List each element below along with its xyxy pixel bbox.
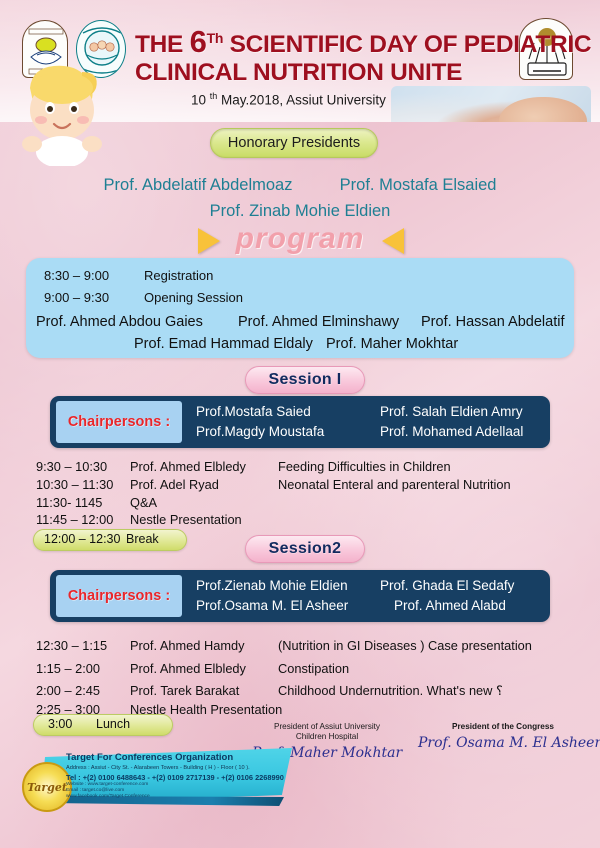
break-label: Break [126,532,159,546]
row-speaker: Prof. Ahmed Elbledy [130,459,246,474]
chairperson-name: Prof.Magdy Moustafa [196,424,324,439]
poster-title-line-1: THE 6Th SCIENTIFIC DAY OF PEDIATRIC [135,24,527,59]
title-pre: THE [135,31,190,58]
program-heading: program [0,222,600,262]
session-1-badge: Session I [245,366,365,394]
triangle-left-icon [382,228,404,254]
cartoon-baby-illustration [8,54,120,166]
chairpersons-label: Chairpersons : [68,414,170,430]
session-1-row: 9:30 – 10:30 Prof. Ahmed Elbledy Feeding… [0,459,600,479]
honorary-names-row-2: Prof. Zinab Mohie Eldien [0,202,600,221]
row-speaker: Prof. Tarek Barakat [130,683,239,698]
chairperson-name: Prof. Salah Eldien Amry [380,404,523,419]
organizer-title: Target For Conferences Organization [66,752,292,763]
opening-speaker-name: Prof. Emad Hammad Eldaly [134,336,313,352]
signature-title-line-1: President of the Congress [418,722,588,732]
session-2-row: 2:00 – 2:45 Prof. Tarek Barakat Childhoo… [0,683,600,703]
chairpersons-label: Chairpersons : [68,588,170,604]
session-1-chairpersons-bar: Chairpersons : Prof.Mostafa Saied Prof. … [50,396,550,448]
chairperson-name: Prof. Mohamed Adellaal [380,424,523,439]
organizer-facebook: www.facebook.com/Target.Conference [66,794,292,800]
target-organization-logo: Target [22,762,72,812]
session-2-row: 12:30 – 1:15 Prof. Ahmed Hamdy (Nutritio… [0,638,600,658]
honorary-presidents-label: Honorary Presidents [228,135,360,151]
organizer-address: Address : Assiut - City St. - Alarabeen … [66,765,292,771]
chairperson-name: Prof.Mostafa Saied [196,404,311,419]
title-post: SCIENTIFIC DAY OF PEDIATRIC [223,31,591,58]
signature-block-right: President of the Congress Prof. Osama M.… [418,722,588,751]
row-topic: Neonatal Enteral and parenteral Nutritio… [278,477,511,492]
row-time: 1:15 – 2:00 [36,661,100,676]
organizer-telephone: Tel : +(2) 0100 6488643 - +(2) 0109 2717… [66,773,292,782]
poster-title-line-2: CLINICAL NUTRITION UNITE [135,59,527,87]
session-2-badge: Session2 [245,535,365,563]
row-topic: Feeding Difficulties in Children [278,459,451,474]
conference-program-poster: THE 6Th SCIENTIFIC DAY OF PEDIATRIC CLIN… [0,0,600,848]
opening-row-label: Registration [144,268,213,283]
chairperson-name: Prof.Zienab Mohie Eldien [196,578,348,593]
session-1-label: Session I [269,371,342,389]
session-1-row: 10:30 – 11:30 Prof. Adel Ryad Neonatal E… [0,477,600,497]
opening-session-box: 8:30 – 9:00 Registration 9:00 – 9:30 Ope… [26,258,574,358]
honorary-presidents-badge: Honorary Presidents [210,128,378,158]
lunch-time: 3:00 [48,717,72,731]
chairperson-name: Prof. Ghada El Sedafy [380,578,514,593]
honorary-name: Prof. Zinab Mohie Eldien [210,202,391,220]
row-time: 12:30 – 1:15 [36,638,107,653]
opening-speaker-name: Prof. Ahmed Abdou Gaies [36,314,203,330]
signature-name: Prof. Osama M. El Asheer [418,735,588,751]
organizer-details: Target For Conferences Organization Addr… [66,752,292,800]
program-word-label: program [0,222,600,256]
chairpersons-plate: Chairpersons : [56,401,182,443]
honorary-names-row-1: Prof. Abdelatif Abdelmoaz Prof. Mostafa … [0,176,600,195]
lunch-label: Lunch [96,717,130,731]
opening-row-time: 9:00 – 9:30 [44,290,109,305]
session-2-chairpersons-bar: Chairpersons : Prof.Zienab Mohie Eldien … [50,570,550,622]
row-time: 9:30 – 10:30 [36,459,107,474]
target-logo-label: Target [27,781,67,794]
row-time: 11:30- 1145 [36,495,102,510]
row-time: 2:00 – 2:45 [36,683,100,698]
opening-speaker-name: Prof. Hassan Abdelatif [421,314,564,330]
subtitle-day: 10 [191,93,210,108]
row-time: 11:45 – 12:00 [36,512,113,527]
chairperson-name: Prof.Osama M. El Asheer [196,598,348,613]
sleeping-baby-photo [391,86,591,122]
row-speaker: Prof. Adel Ryad [130,477,219,492]
row-topic: (Nutrition in GI Diseases ) Case present… [278,638,532,653]
opening-speaker-name: Prof. Maher Mokhtar [326,336,458,352]
opening-speaker-name: Prof. Ahmed Elminshawy [238,314,399,330]
break-pill: 12:00 – 12:30 Break [33,529,187,551]
row-speaker: Prof. Ahmed Hamdy [130,638,245,653]
opening-row-time: 8:30 – 9:00 [44,268,109,283]
title-ordinal: Th [207,30,224,46]
row-speaker: Nestle Presentation [130,512,242,527]
break-time: 12:00 – 12:30 [44,532,120,546]
row-topic: Constipation [278,661,349,676]
row-time: 10:30 – 11:30 [36,477,113,492]
chairperson-name: Prof. Ahmed Alabd [394,598,506,613]
chairpersons-plate: Chairpersons : [56,575,182,617]
honorary-name: Prof. Abdelatif Abdelmoaz [104,176,293,195]
row-speaker: Q&A [130,495,157,510]
row-topic: Childhood Undernutrition. What's new ؟ [278,683,503,699]
session-2-row: 1:15 – 2:00 Prof. Ahmed Elbledy Constipa… [0,661,600,681]
opening-row-label: Opening Session [144,290,243,305]
signature-title-line-2: Children Hospital [252,732,402,742]
lunch-pill: 3:00 Lunch [33,714,173,736]
subtitle-rest: May.2018, Assiut University [217,93,386,108]
title-number: 6 [190,24,207,59]
session-2-label: Session2 [269,540,342,558]
row-speaker: Prof. Ahmed Elbledy [130,661,246,676]
honorary-name: Prof. Mostafa Elsaied [340,176,497,195]
signature-title-line-1: President of Assiut University [252,722,402,732]
